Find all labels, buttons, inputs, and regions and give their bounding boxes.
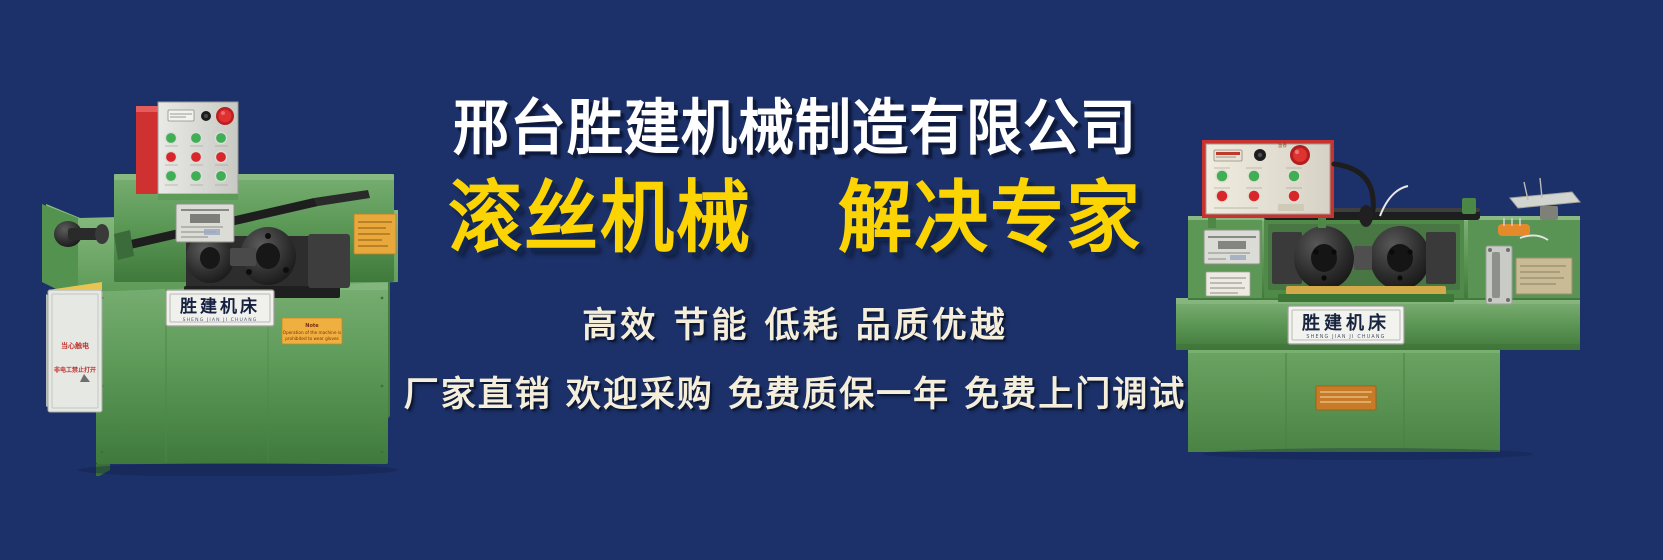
headline-left: 滚丝机械 — [448, 179, 752, 257]
nameplate-left: 胜建机床 SHENG JIAN JI CHUANG — [166, 290, 274, 326]
svg-text:胜建机床: 胜建机床 — [180, 296, 260, 317]
control-panel-left — [136, 102, 238, 200]
electrical-cabinet-left: 当心触电 非电工禁止打开 — [46, 282, 102, 412]
warning-label-orange-left — [354, 214, 396, 254]
promo-banner: 胜建机床 SHENG JIAN JI CHUANG Note Operation… — [0, 0, 1663, 560]
info-label-right — [1206, 272, 1250, 296]
svg-text:胜建机床: 胜建机床 — [1302, 312, 1390, 334]
svg-text:当心触电: 当心触电 — [61, 341, 89, 350]
subtitle-line-1: 高效 节能 低耗 品质优越 — [582, 297, 1008, 348]
svg-text:非电工禁止打开: 非电工禁止打开 — [54, 366, 96, 374]
svg-text:急停: 急停 — [1278, 142, 1287, 149]
spec-plate-right — [1204, 230, 1260, 264]
subtitle-line-2: 厂家直销 欢迎采购 免费质保一年 免费上门调试 — [404, 366, 1187, 417]
spec-plate-left — [176, 204, 234, 242]
nameplate-right: 胜建机床 SHENG JIAN JI CHUANG — [1288, 306, 1404, 344]
svg-text:SHENG JIAN JI CHUANG: SHENG JIAN JI CHUANG — [1306, 334, 1385, 340]
machine-base-right — [1188, 348, 1500, 452]
headline-row: 滚丝机械 解决专家 — [448, 181, 1142, 255]
svg-text:Note: Note — [305, 323, 319, 329]
machine-photo-left: 胜建机床 SHENG JIAN JI CHUANG Note Operation… — [18, 86, 428, 476]
banner-text-block: 邢台胜建机械制造有限公司 滚丝机械 解决专家 高效 节能 低耗 品质优越 厂家直… — [400, 0, 1190, 560]
svg-text:prohibited to wear gloves: prohibited to wear gloves — [285, 336, 338, 341]
svg-text:Operation of the machine is: Operation of the machine is — [283, 330, 341, 335]
warning-label-note-left: Note Operation of the machine is prohibi… — [282, 318, 342, 344]
rolling-dies-right — [1264, 218, 1464, 302]
company-name: 邢台胜建机械制造有限公司 — [453, 98, 1137, 162]
control-panel-right: 急停 — [1202, 140, 1334, 228]
svg-text:SHENG JIAN JI CHUANG: SHENG JIAN JI CHUANG — [183, 317, 258, 323]
headline-right: 解决专家 — [838, 179, 1142, 257]
machine-photo-right: 急停 — [1168, 120, 1588, 460]
